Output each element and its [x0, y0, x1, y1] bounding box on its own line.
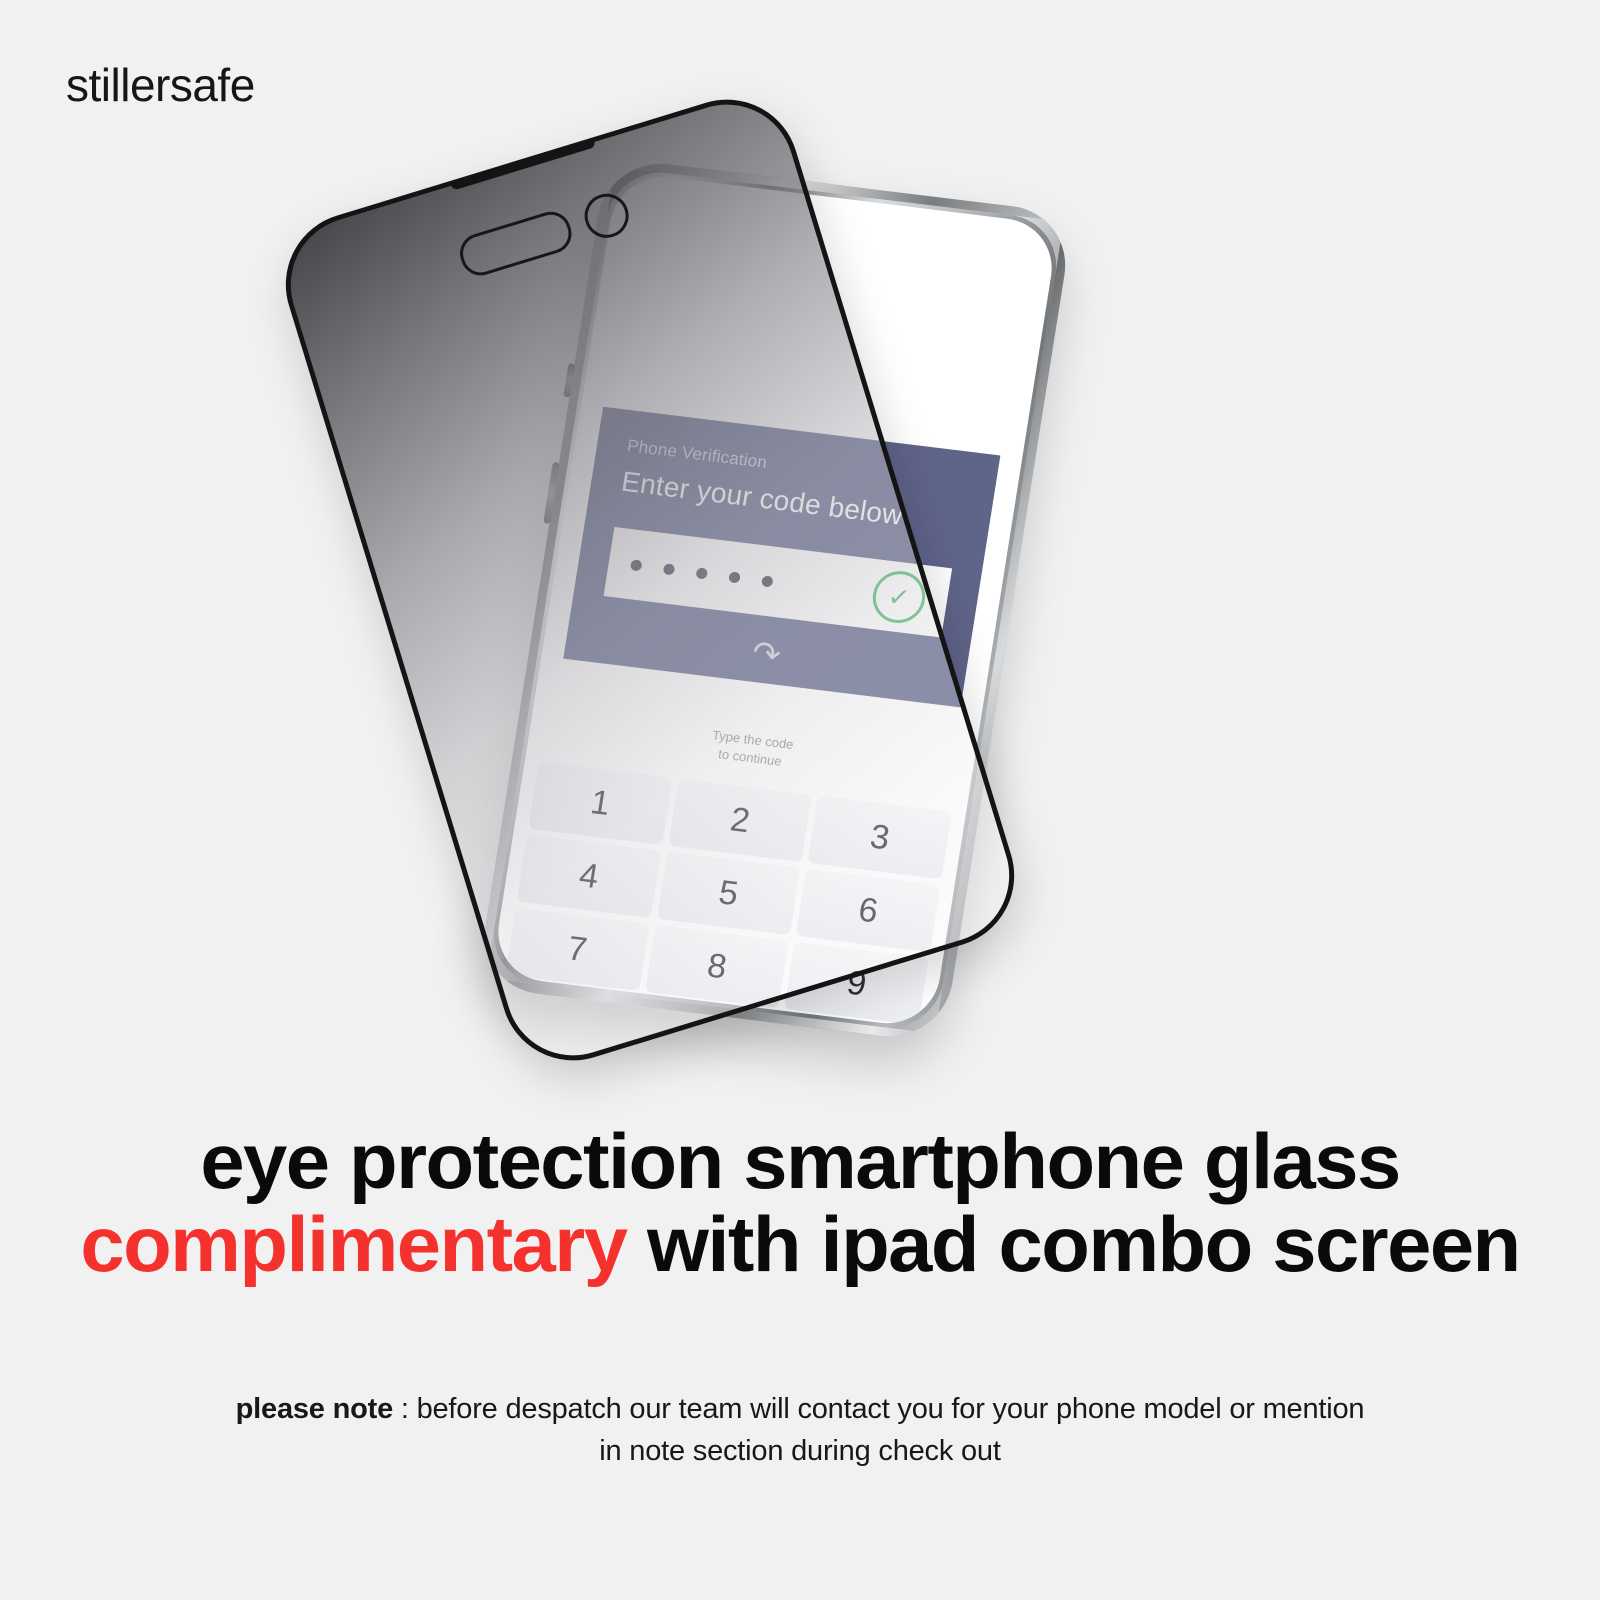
note-line-1: please note : before despatch our team w…	[0, 1388, 1600, 1430]
headline-highlight: complimentary	[80, 1200, 626, 1288]
headline-line-1: eye protection smartphone glass	[0, 1120, 1600, 1203]
note-label: please note	[236, 1393, 393, 1425]
headline-line-2-rest: with ipad combo screen	[626, 1200, 1519, 1288]
promo-banner: stillersafe Phone Verification Enter you…	[0, 0, 1600, 1600]
camera-dot-icon	[579, 188, 634, 243]
headline-line-2: complimentary with ipad combo screen	[0, 1203, 1600, 1286]
note-text: please note : before despatch our team w…	[0, 1388, 1600, 1472]
note-separator: :	[393, 1393, 417, 1425]
note-body-line-1: before despatch our team will contact yo…	[417, 1393, 1365, 1425]
product-hero-image: Phone Verification Enter your code below…	[0, 120, 1600, 1070]
brand-logo: stillersafe	[66, 62, 255, 108]
note-body-line-2: in note section during check out	[0, 1430, 1600, 1472]
glass-top-notch	[450, 138, 596, 190]
headline: eye protection smartphone glass complime…	[0, 1120, 1600, 1287]
dynamic-island-cutout	[455, 188, 634, 281]
dynamic-island-pill-icon	[455, 207, 576, 280]
